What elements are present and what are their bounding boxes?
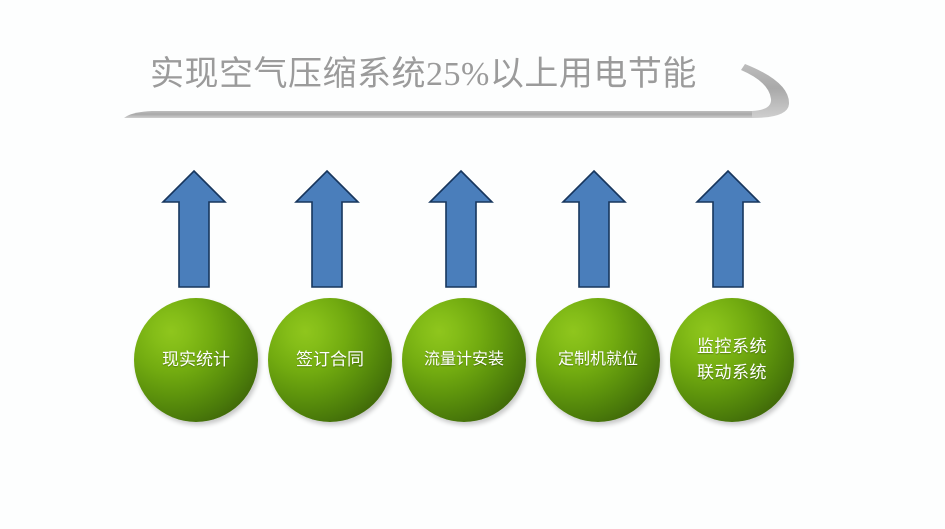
process-node-label: 定制机就位 xyxy=(558,349,638,371)
title-banner: 实现空气压缩系统25%以上用电节能 xyxy=(0,0,945,160)
process-node[interactable]: 现实统计 xyxy=(134,298,258,422)
up-arrow-icon xyxy=(560,168,628,290)
slide-canvas: 实现空气压缩系统25%以上用电节能 xyxy=(0,0,945,529)
process-node[interactable]: 定制机就位 xyxy=(536,298,660,422)
up-arrow-icon xyxy=(160,168,228,290)
process-node[interactable]: 流量计安装 xyxy=(402,298,526,422)
up-arrow-icon xyxy=(427,168,495,290)
process-node-row: 现实统计 签订合同 流量计安装 定制机就位 监控系统 联动系统 xyxy=(0,298,945,438)
process-node[interactable]: 签订合同 xyxy=(268,298,392,422)
process-node-label: 监控系统 联动系统 xyxy=(697,334,767,386)
process-node-label: 现实统计 xyxy=(162,349,230,371)
banner-rule-bar xyxy=(124,111,752,118)
up-arrow-icon xyxy=(293,168,361,290)
up-arrow-icon xyxy=(694,168,762,290)
arrow-row xyxy=(0,168,945,294)
page-title: 实现空气压缩系统25%以上用电节能 xyxy=(150,52,750,100)
process-node-label: 签订合同 xyxy=(296,349,364,371)
process-node[interactable]: 监控系统 联动系统 xyxy=(670,298,794,422)
process-node-label: 流量计安装 xyxy=(424,349,504,371)
